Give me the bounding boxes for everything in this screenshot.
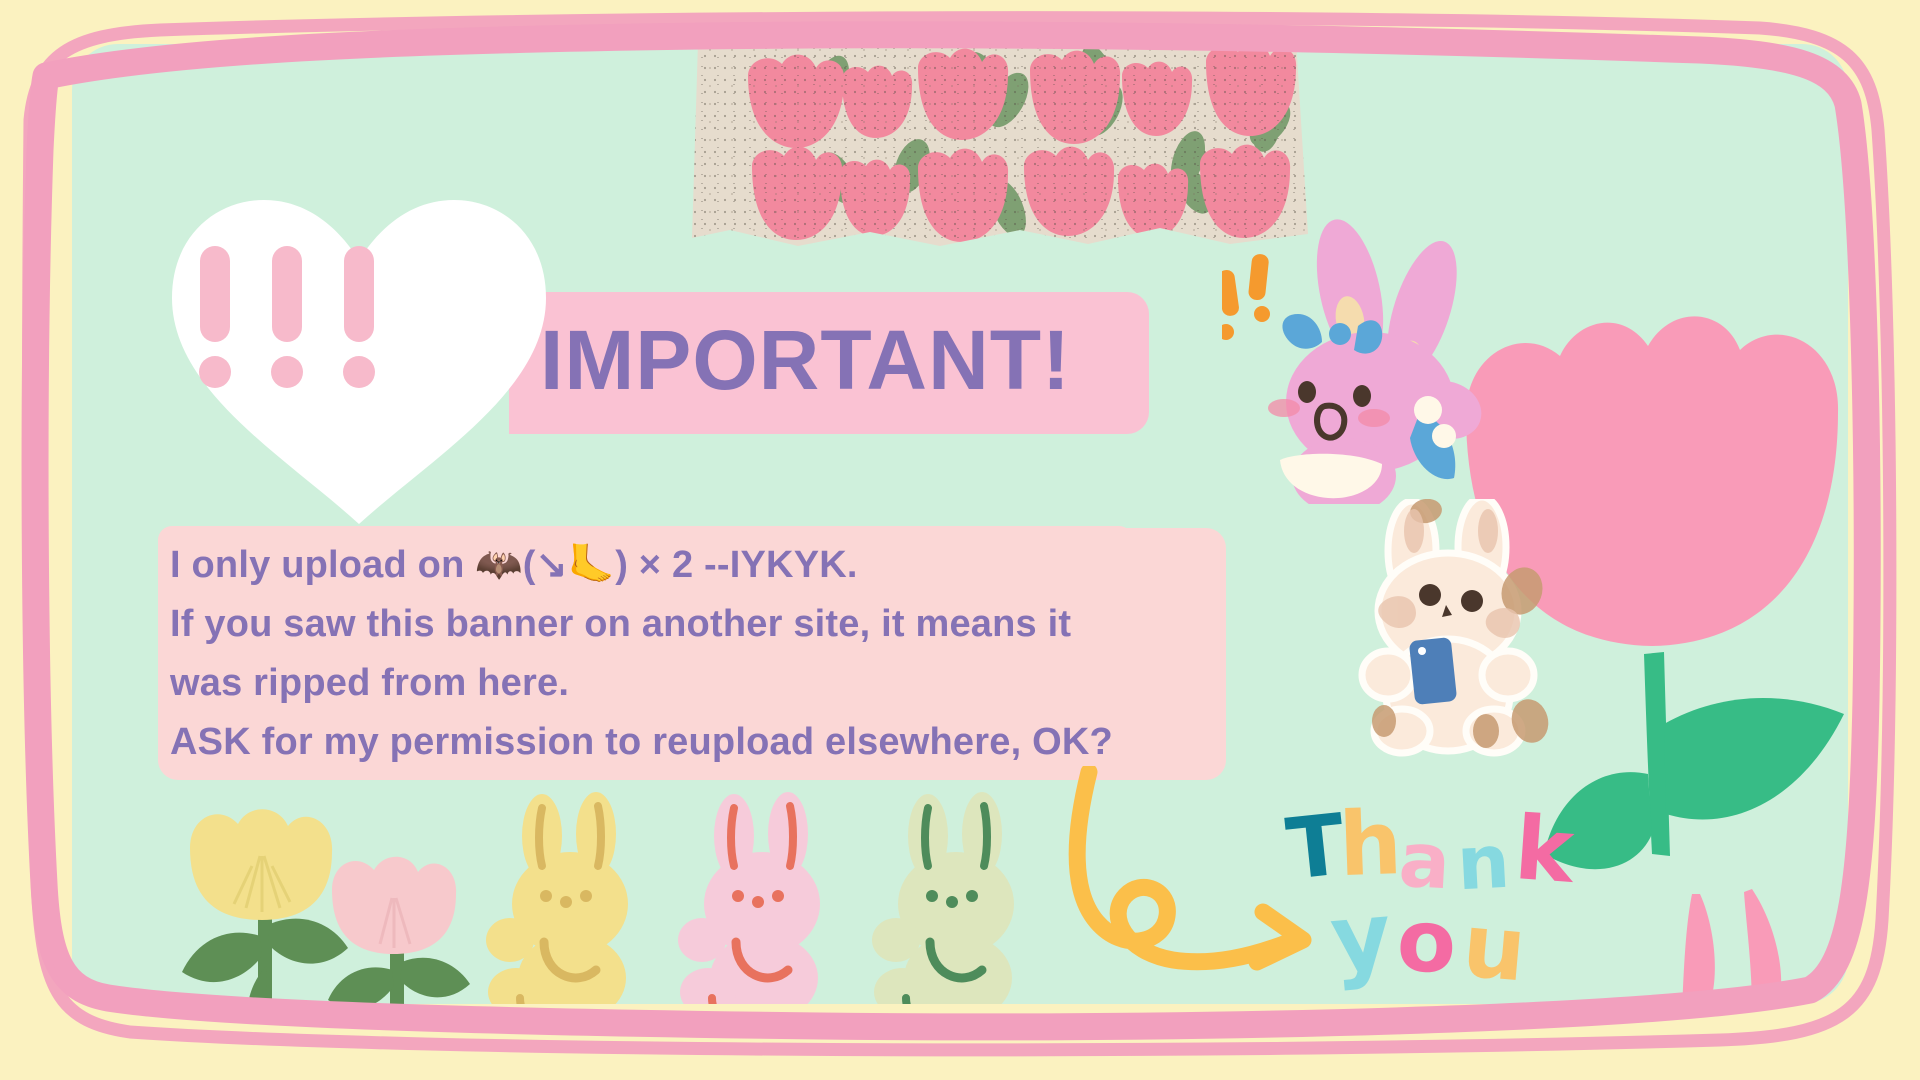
thankyou-letter-k: k	[1511, 796, 1577, 903]
banner-card: IMPORTANT!	[72, 44, 1848, 1004]
thankyou-letter-y: y	[1326, 882, 1395, 994]
banner-root: IMPORTANT!	[0, 0, 1920, 1080]
green-gummy-bunny	[866, 792, 1036, 1004]
message-line-4: ASK for my permission to reupload elsewh…	[170, 713, 1113, 772]
small-pink-tulip	[312, 844, 482, 1004]
page-title: IMPORTANT!	[540, 312, 1071, 409]
thankyou-letter-h: h	[1337, 791, 1403, 896]
thank-you-lettering: T h a n k y o u	[1287, 792, 1617, 1004]
yellow-gummy-bunny	[480, 792, 650, 1004]
message-block: I only upload on 🦇(↘🦶) × 2 --IYKYK. If y…	[170, 536, 1113, 772]
thankyou-letter-o: o	[1395, 891, 1458, 993]
cream-spotted-bunny-with-phone	[1340, 499, 1560, 759]
tulip-washi-tape	[690, 44, 1312, 256]
pink-bunny-with-blue-bow	[1222, 214, 1512, 504]
thankyou-letter-u: u	[1459, 893, 1530, 1001]
pink-gummy-bunny	[672, 792, 842, 1004]
white-heart-with-exclamations	[164, 194, 554, 524]
